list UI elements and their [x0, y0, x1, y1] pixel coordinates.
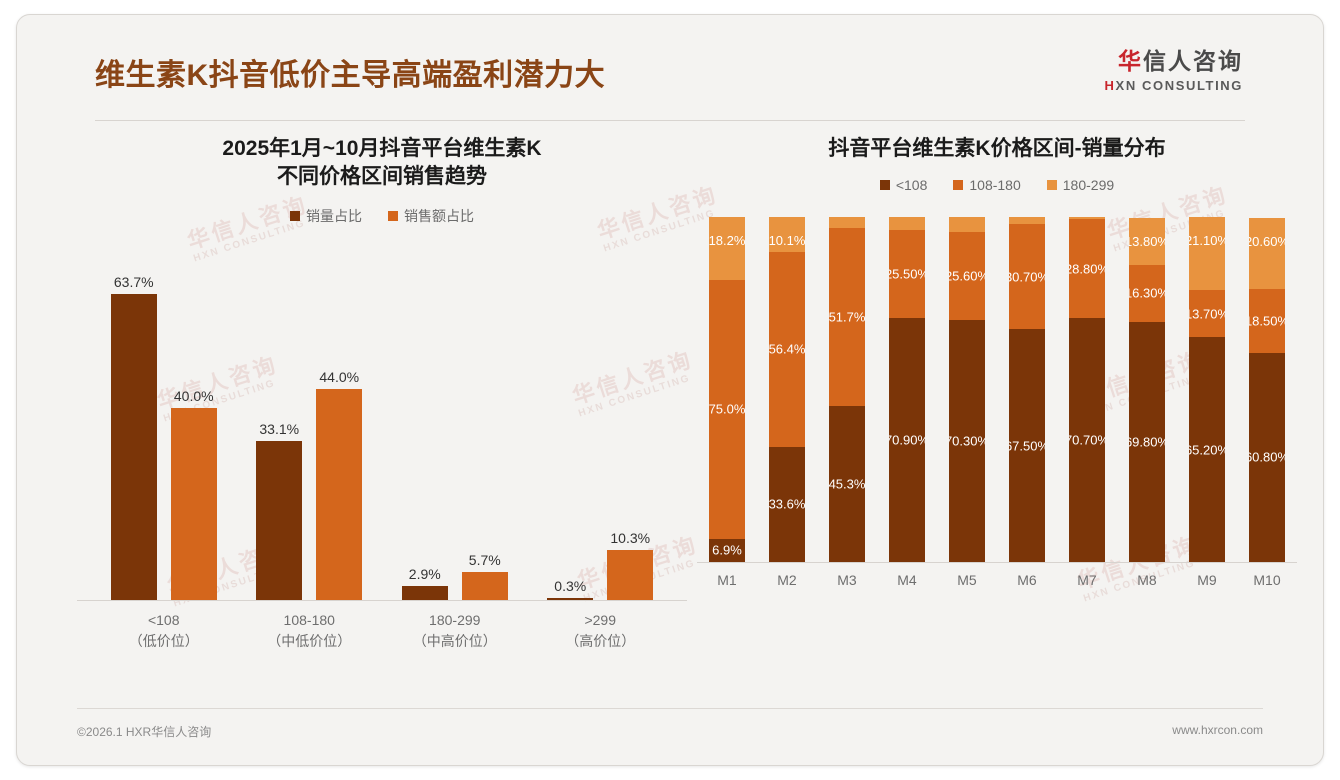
stacked-bar-column[interactable]: 3.0%51.7%45.3% [829, 217, 865, 562]
stacked-bar-segment[interactable]: 70.30% [949, 320, 985, 563]
xaxis-tick-label: M9 [1189, 572, 1225, 588]
stacked-bar-segment[interactable]: 18.2% [709, 217, 745, 280]
bar[interactable] [171, 408, 217, 600]
brand-logo-en: HXN CONSULTING [1105, 79, 1243, 92]
stacked-bar-segment[interactable]: 4.70% [949, 217, 985, 231]
right-chart-panel: 抖音平台维生素K价格区间-销量分布 <108108-180180-299 18.… [697, 135, 1297, 710]
segment-value-label: 28.80% [1069, 261, 1105, 276]
segment-value-label: 13.70% [1189, 306, 1225, 321]
segment-value-label: 70.70% [1069, 433, 1105, 448]
bar-group: 2.9%5.7% [402, 240, 508, 600]
bar-column[interactable]: 40.0% [171, 240, 217, 600]
stacked-bar-segment[interactable]: 70.70% [1069, 318, 1105, 562]
stacked-bar-column[interactable]: 10.1%56.4%33.6% [769, 217, 805, 562]
stacked-bar-segment[interactable]: 3.0% [829, 217, 865, 227]
stacked-bar-segment[interactable]: 18.50% [1249, 289, 1285, 353]
segment-value-label: 25.50% [889, 266, 925, 281]
segment-value-label: 6.9% [712, 543, 742, 558]
stacked-bar-column[interactable]: 21.10%13.70%65.20% [1189, 217, 1225, 562]
bar[interactable] [111, 294, 157, 600]
bar-group: 63.7%40.0% [111, 240, 217, 600]
segment-value-label: 25.60% [949, 268, 985, 283]
bar-value-label: 40.0% [174, 388, 214, 404]
stacked-bar-segment[interactable]: 33.6% [769, 447, 805, 563]
stacked-bar-segment[interactable]: 60.80% [1249, 353, 1285, 563]
legend-swatch-icon [388, 211, 398, 221]
left-chart-plot: 63.7%40.0%33.1%44.0%2.9%5.7%0.3%10.3% [77, 240, 687, 601]
stacked-bar-segment[interactable]: 67.50% [1009, 329, 1045, 562]
stacked-bar-segment[interactable]: 25.50% [889, 230, 925, 318]
stacked-bar-column[interactable]: 18.2%75.0%6.9% [709, 217, 745, 562]
segment-value-label: 67.50% [1009, 438, 1045, 453]
stacked-bar-segment[interactable]: 30.70% [1009, 224, 1045, 330]
stacked-bar-column[interactable]: 4.70%25.60%70.30% [949, 217, 985, 562]
stacked-bar-column[interactable]: 3.40%25.50%70.90% [889, 217, 925, 562]
header-divider [95, 120, 1245, 121]
xaxis-tick-main: >299 [584, 612, 616, 628]
brand-logo: 华信人咨询 HXN CONSULTING [1105, 50, 1243, 92]
bar-column[interactable]: 2.9% [402, 240, 448, 600]
bar-value-label: 63.7% [114, 274, 154, 290]
legend-label: <108 [896, 177, 928, 193]
right-chart-xaxis: M1M2M3M4M5M6M7M8M9M10 [697, 572, 1297, 588]
legend-item[interactable]: 销售额占比 [388, 206, 474, 226]
segment-value-label: 56.4% [769, 342, 805, 357]
left-bar-groups: 63.7%40.0%33.1%44.0%2.9%5.7%0.3%10.3% [77, 240, 687, 600]
bar[interactable] [256, 441, 302, 600]
right-stacked-bars: 18.2%75.0%6.9%10.1%56.4%33.6%3.0%51.7%45… [697, 217, 1297, 562]
page-title: 维生素K抖音低价主导高端盈利潜力大 [95, 50, 605, 94]
slide-root: 华信人咨询 HXN CONSULTING 华信人咨询 HXN CONSULTIN… [0, 0, 1340, 780]
bar[interactable] [547, 598, 593, 600]
legend-label: 180-299 [1063, 177, 1114, 193]
legend-label: 销量占比 [306, 206, 362, 226]
bar-column[interactable]: 44.0% [316, 240, 362, 600]
left-chart-title: 2025年1月~10月抖音平台维生素K 不同价格区间销售趋势 [77, 135, 687, 192]
brand-logo-cn: 华信人咨询 [1105, 50, 1243, 73]
stacked-bar-column[interactable]: 0.50%28.80%70.70% [1069, 217, 1105, 562]
legend-item[interactable]: 销量占比 [290, 206, 362, 226]
segment-value-label: 16.30% [1129, 286, 1165, 301]
segment-value-label: 51.7% [829, 309, 865, 324]
legend-label: 销售额占比 [404, 206, 474, 226]
segment-value-label: 21.10% [1189, 233, 1225, 248]
bar[interactable] [402, 586, 448, 600]
bar-column[interactable]: 33.1% [256, 240, 302, 600]
stacked-bar-segment[interactable]: 69.80% [1129, 322, 1165, 563]
stacked-bar-segment[interactable]: 65.20% [1189, 337, 1225, 562]
xaxis-tick-label: <108（低价位） [94, 610, 234, 652]
stacked-bar-segment[interactable]: 10.1% [769, 217, 805, 252]
xaxis-tick-label: M2 [769, 572, 805, 588]
stacked-bar-segment[interactable]: 13.70% [1189, 290, 1225, 337]
brand-logo-cn-accent: 华 [1118, 48, 1143, 74]
segment-value-label: 75.0% [709, 402, 745, 417]
segment-value-label: 70.90% [889, 433, 925, 448]
right-chart-title-text: 抖音平台维生素K价格区间-销量分布 [828, 137, 1165, 160]
bar-column[interactable]: 63.7% [111, 240, 157, 600]
bar[interactable] [462, 572, 508, 599]
bar-value-label: 5.7% [469, 552, 501, 568]
legend-swatch-icon [953, 180, 963, 190]
stacked-bar-segment[interactable]: 25.60% [949, 232, 985, 320]
bar-group: 33.1%44.0% [256, 240, 362, 600]
stacked-bar-segment[interactable]: 51.7% [829, 228, 865, 406]
xaxis-tick-label: M8 [1129, 572, 1165, 588]
bar-value-label: 2.9% [409, 566, 441, 582]
segment-value-label: 69.80% [1129, 434, 1165, 449]
stacked-bar-segment[interactable]: 6.9% [709, 539, 745, 563]
segment-value-label: 13.80% [1129, 234, 1165, 249]
stacked-bar-segment[interactable]: 70.90% [889, 318, 925, 563]
stacked-bar-segment[interactable]: 28.80% [1069, 219, 1105, 318]
legend-swatch-icon [880, 180, 890, 190]
stacked-bar-segment[interactable]: 16.30% [1129, 265, 1165, 321]
segment-value-label: 18.2% [709, 233, 745, 248]
xaxis-tick-sub: （高价位） [530, 631, 670, 652]
stacked-bar-segment[interactable]: 21.10% [1189, 217, 1225, 290]
right-chart-legend: <108108-180180-299 [697, 177, 1297, 193]
xaxis-tick-label: M7 [1069, 572, 1105, 588]
xaxis-tick-main: 108-180 [284, 612, 335, 628]
bar-value-label: 33.1% [259, 421, 299, 437]
brand-logo-en-accent: H [1105, 78, 1116, 93]
brand-logo-cn-rest: 信人咨询 [1143, 48, 1243, 74]
bar-group: 0.3%10.3% [547, 240, 653, 600]
xaxis-tick-sub: （中低价位） [239, 631, 379, 652]
xaxis-tick-sub: （中高价位） [385, 631, 525, 652]
bar-value-label: 10.3% [610, 530, 650, 546]
brand-logo-en-rest: XN CONSULTING [1116, 78, 1243, 93]
slide-header: 维生素K抖音低价主导高端盈利潜力大 华信人咨询 HXN CONSULTING [17, 15, 1323, 119]
xaxis-tick-main: 180-299 [429, 612, 480, 628]
stacked-bar-column[interactable]: 13.80%16.30%69.80% [1129, 217, 1165, 562]
legend-swatch-icon [1047, 180, 1057, 190]
xaxis-tick-label: 108-180（中低价位） [239, 610, 379, 652]
xaxis-tick-label: 180-299（中高价位） [385, 610, 525, 652]
legend-item[interactable]: 180-299 [1047, 177, 1114, 193]
legend-swatch-icon [290, 211, 300, 221]
segment-value-label: 18.50% [1249, 313, 1285, 328]
xaxis-tick-label: M6 [1009, 572, 1045, 588]
bar-column[interactable]: 5.7% [462, 240, 508, 600]
footer-copyright: ©2026.1 HXR华信人咨询 [77, 723, 211, 740]
segment-value-label: 65.20% [1189, 442, 1225, 457]
slide-frame: 华信人咨询 HXN CONSULTING 华信人咨询 HXN CONSULTIN… [16, 14, 1324, 766]
segment-value-label: 10.1% [769, 233, 805, 248]
stacked-bar-column[interactable]: 20.60%18.50%60.80% [1249, 217, 1285, 562]
left-chart-panel: 2025年1月~10月抖音平台维生素K 不同价格区间销售趋势 销量占比销售额占比… [77, 135, 687, 710]
segment-value-label: 45.3% [829, 477, 865, 492]
legend-label: 108-180 [969, 177, 1020, 193]
bar[interactable] [316, 389, 362, 600]
bar-column[interactable]: 0.3% [547, 240, 593, 600]
segment-value-label: 20.60% [1249, 234, 1285, 249]
xaxis-tick-label: >299（高价位） [530, 610, 670, 652]
left-chart-xaxis: <108（低价位）108-180（中低价位）180-299（中高价位）>299（… [77, 610, 687, 652]
xaxis-tick-label: M10 [1249, 572, 1285, 588]
bar[interactable] [607, 550, 653, 599]
legend-item[interactable]: <108 [880, 177, 928, 193]
xaxis-tick-label: M5 [949, 572, 985, 588]
footer-website: www.hxrcon.com [1172, 723, 1263, 737]
stacked-bar-segment[interactable]: 3.40% [889, 217, 925, 229]
left-chart-legend: 销量占比销售额占比 [77, 206, 687, 226]
segment-value-label: 70.30% [949, 434, 985, 449]
segment-value-label: 60.80% [1249, 450, 1285, 465]
right-chart-plot: 18.2%75.0%6.9%10.1%56.4%33.6%3.0%51.7%45… [697, 217, 1297, 563]
xaxis-tick-main: <108 [148, 612, 180, 628]
xaxis-tick-label: M3 [829, 572, 865, 588]
xaxis-tick-label: M1 [709, 572, 745, 588]
stacked-bar-segment[interactable]: 20.60% [1249, 218, 1285, 289]
stacked-bar-segment[interactable]: 75.0% [709, 280, 745, 539]
stacked-bar-column[interactable]: 1.70%30.70%67.50% [1009, 217, 1045, 562]
legend-item[interactable]: 108-180 [953, 177, 1020, 193]
bar-value-label: 0.3% [554, 578, 586, 594]
segment-value-label: 30.70% [1009, 269, 1045, 284]
right-chart-title: 抖音平台维生素K价格区间-销量分布 [697, 135, 1297, 163]
bar-column[interactable]: 10.3% [607, 240, 653, 600]
stacked-bar-segment[interactable]: 45.3% [829, 406, 865, 562]
xaxis-tick-label: M4 [889, 572, 925, 588]
left-chart-title-line1: 2025年1月~10月抖音平台维生素K [222, 137, 541, 160]
stacked-bar-segment[interactable]: 13.80% [1129, 218, 1165, 266]
xaxis-tick-sub: （低价位） [94, 631, 234, 652]
slide-footer: ©2026.1 HXR华信人咨询 www.hxrcon.com [77, 708, 1263, 747]
stacked-bar-segment[interactable]: 56.4% [769, 252, 805, 446]
left-chart-title-line2: 不同价格区间销售趋势 [77, 163, 687, 191]
bar-value-label: 44.0% [319, 369, 359, 385]
segment-value-label: 33.6% [769, 497, 805, 512]
